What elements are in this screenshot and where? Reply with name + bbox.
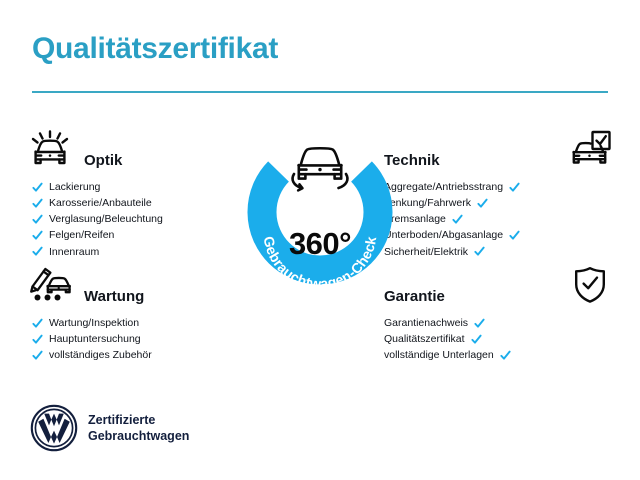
list-item: Garantienachweis	[384, 315, 616, 331]
list-item: Lenkung/Fahrwerk	[384, 195, 616, 211]
list-item-label: vollständiges Zubehör	[49, 350, 152, 361]
shield-check-icon	[564, 264, 616, 306]
list-item-label: Lackierung	[49, 182, 100, 193]
check-icon	[32, 334, 43, 345]
list-item: Hauptuntersuchung	[24, 331, 256, 347]
car-checkbox-icon	[564, 128, 616, 170]
check-icon	[477, 198, 488, 209]
check-icon	[474, 318, 485, 329]
check-icon	[32, 230, 43, 241]
list-item: Unterboden/Abgasanlage	[384, 228, 616, 244]
check-icon	[32, 246, 43, 257]
list-item: Aggregate/Antriebsstrang	[384, 179, 616, 195]
check-icon	[509, 230, 520, 241]
section-technik-header: Technik	[384, 126, 616, 170]
section-garantie-header: Garantie	[384, 262, 616, 306]
list-item: Sicherheit/Elektrik	[384, 244, 616, 260]
check-icon	[32, 318, 43, 329]
section-title: Wartung	[84, 288, 144, 309]
footer-line-1: Zertifizierte	[88, 412, 189, 429]
list-item-label: Felgen/Reifen	[49, 230, 114, 241]
list-item: vollständiges Zubehör	[24, 347, 256, 363]
section-wartung: Wartung Wartung/Inspektion Hauptuntersuc…	[24, 262, 256, 364]
quality-certificate-page: Qualitätszertifikat	[0, 0, 640, 480]
list-item: Bremsanlage	[384, 211, 616, 227]
badge-center-label: 360°	[232, 226, 408, 262]
vw-logo-icon	[30, 404, 78, 452]
section-technik: Technik Aggregate/Antriebsstrang Lenkung…	[384, 126, 616, 260]
checklist-garantie: Garantienachweis Qualitätszertifikat vol…	[384, 315, 616, 364]
check-icon	[32, 182, 43, 193]
checklist-optik: Lackierung Karosserie/Anbauteile Verglas…	[24, 179, 256, 260]
page-title: Qualitätszertifikat	[32, 32, 278, 65]
list-item: Lackierung	[24, 179, 256, 195]
list-item-label: Innenraum	[49, 247, 99, 258]
checklist-wartung: Wartung/Inspektion Hauptuntersuchung vol…	[24, 315, 256, 364]
badge-360-gebrauchtwagen-check: Gebrauchtwagen-Check 360°	[232, 122, 408, 308]
section-optik-title-wrap: Optik	[76, 152, 256, 170]
list-item-label: Garantienachweis	[384, 318, 468, 329]
list-item-label: vollständige Unterlagen	[384, 350, 494, 361]
section-optik-header: Optik	[24, 126, 256, 170]
list-item: Innenraum	[24, 244, 256, 260]
check-icon	[471, 334, 482, 345]
checklist-technik: Aggregate/Antriebsstrang Lenkung/Fahrwer…	[384, 179, 616, 260]
list-item-label: Wartung/Inspektion	[49, 318, 139, 329]
list-item: Verglasung/Beleuchtung	[24, 211, 256, 227]
footer-text: Zertifizierte Gebrauchtwagen	[88, 412, 189, 445]
section-technik-title-wrap: Technik	[384, 152, 564, 170]
list-item: Wartung/Inspektion	[24, 315, 256, 331]
list-item: vollständige Unterlagen	[384, 347, 616, 363]
check-icon	[32, 198, 43, 209]
section-title: Optik	[84, 152, 122, 173]
list-item: Qualitätszertifikat	[384, 331, 616, 347]
section-wartung-header: Wartung	[24, 262, 256, 306]
check-icon	[474, 246, 485, 257]
check-icon	[500, 350, 511, 361]
list-item-label: Qualitätszertifikat	[384, 334, 465, 345]
check-icon	[32, 350, 43, 361]
footer-line-2: Gebrauchtwagen	[88, 428, 189, 445]
car-service-pen-icon	[24, 264, 76, 306]
list-item: Felgen/Reifen	[24, 228, 256, 244]
list-item-label: Hauptuntersuchung	[49, 334, 141, 345]
list-item-label: Verglasung/Beleuchtung	[49, 214, 163, 225]
list-item: Karosserie/Anbauteile	[24, 195, 256, 211]
header-divider	[32, 91, 608, 93]
list-item-label: Karosserie/Anbauteile	[49, 198, 152, 209]
check-icon	[32, 214, 43, 225]
car-shine-icon	[24, 128, 76, 170]
section-optik: Optik Lackierung Karosserie/Anbauteile	[24, 126, 256, 260]
section-garantie: Garantie Garantienachweis Qualitätszerti…	[384, 262, 616, 364]
check-icon	[452, 214, 463, 225]
footer-brand: Zertifizierte Gebrauchtwagen	[30, 404, 189, 452]
check-icon	[509, 182, 520, 193]
section-garantie-title-wrap: Garantie	[384, 288, 564, 306]
section-wartung-title-wrap: Wartung	[76, 288, 256, 306]
